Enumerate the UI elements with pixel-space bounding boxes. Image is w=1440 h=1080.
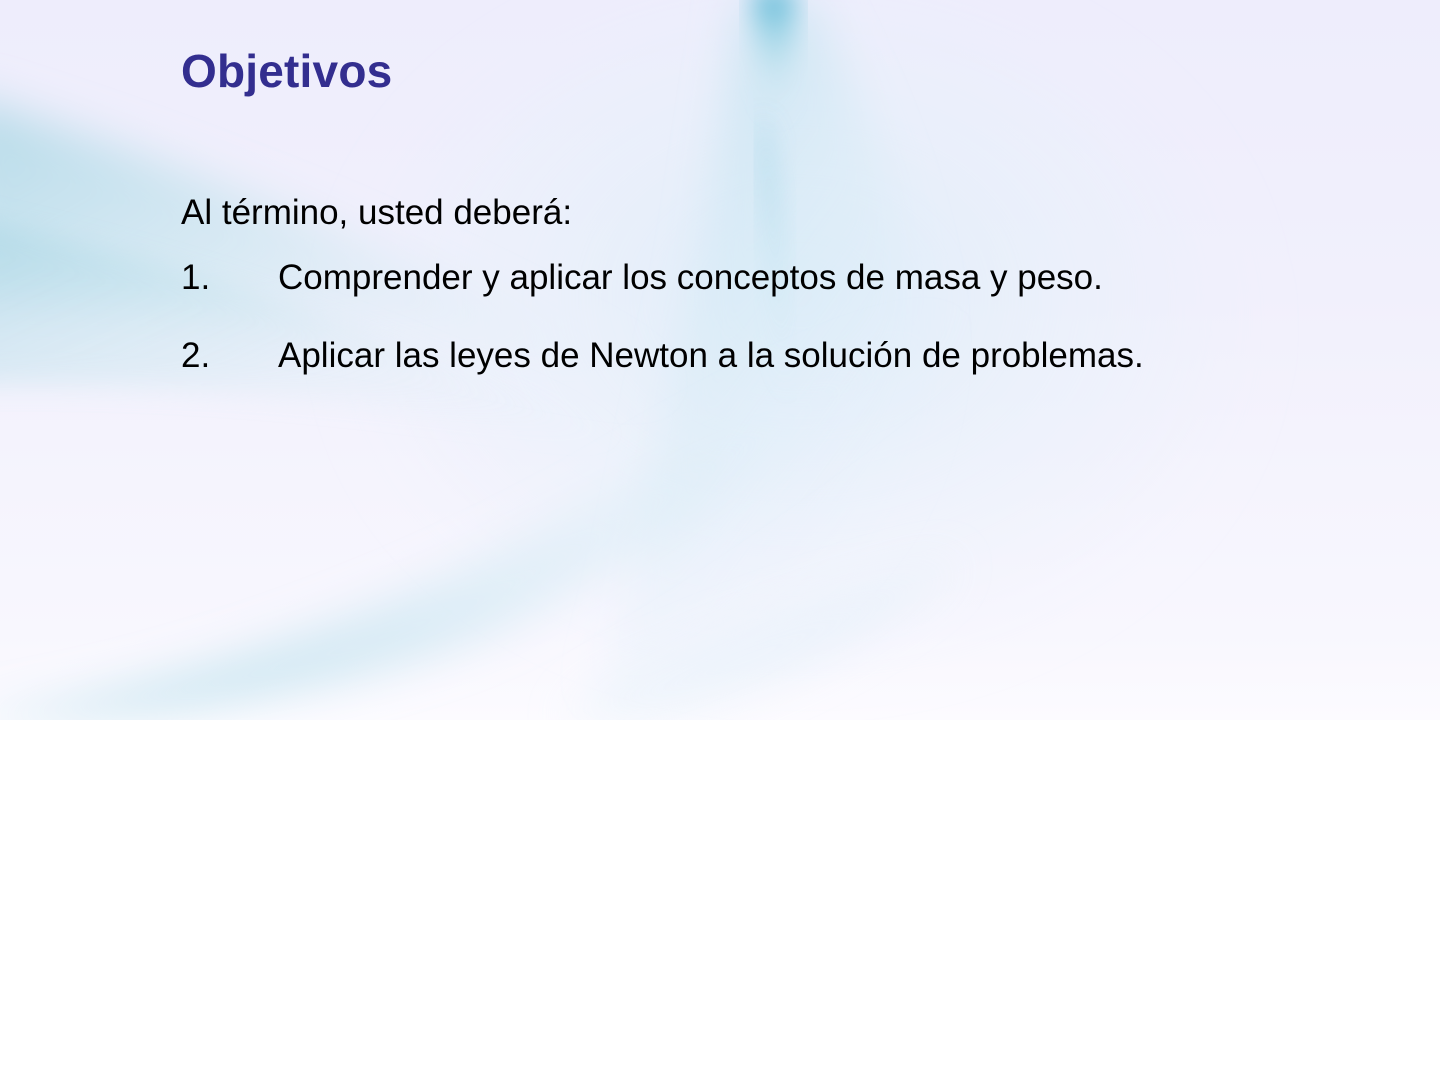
presentation-page: Objetivos Al término, usted deberá: 1. C… [0,0,1440,1080]
list-item-number: 1. [181,248,278,308]
list-item-number: 2. [181,326,278,386]
slide-body: Al término, usted deberá: 1. Comprender … [181,192,1201,386]
slide-canvas: Objetivos Al término, usted deberá: 1. C… [0,0,1440,720]
slide-title: Objetivos [181,45,392,98]
objectives-list: 1. Comprender y aplicar los conceptos de… [181,248,1201,386]
list-item-text: Aplicar las leyes de Newton a la solució… [278,326,1158,386]
list-item: 2. Aplicar las leyes de Newton a la solu… [181,326,1201,386]
list-item: 1. Comprender y aplicar los conceptos de… [181,248,1201,308]
list-item-text: Comprender y aplicar los conceptos de ma… [278,248,1158,308]
lead-in-text: Al término, usted deberá: [181,192,1201,234]
